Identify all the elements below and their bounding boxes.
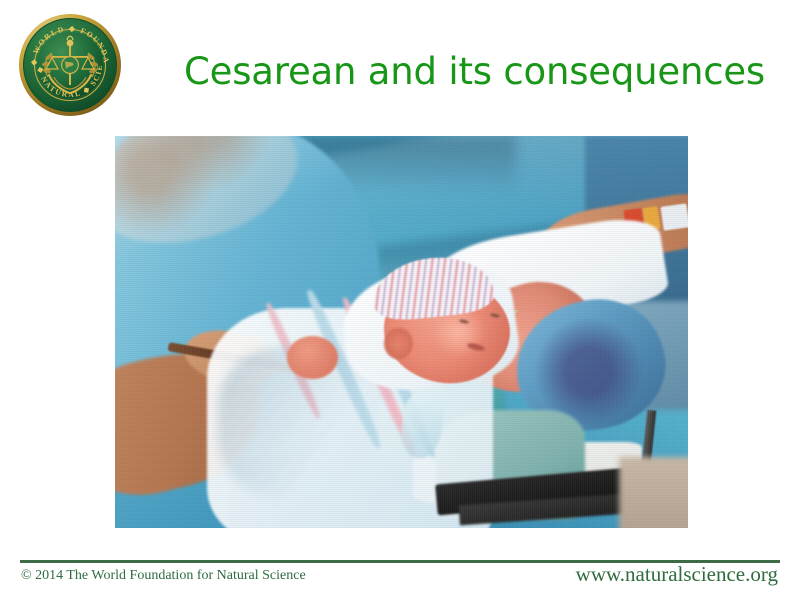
seal-icon: THE ◆ WORLD ◆ FOUNDATION FOR ◆ NATURAL ◆… [18,13,122,117]
slide: Cesarean and its consequences [0,0,800,600]
hospital-wristband-white [660,203,688,230]
footer-website: www.naturalscience.org [576,562,778,587]
photo-content [115,136,688,528]
footer-copyright: © 2014 The World Foundation for Natural … [21,568,306,584]
organization-logo: THE ◆ WORLD ◆ FOUNDATION FOR ◆ NATURAL ◆… [18,13,122,117]
slide-photo [115,136,688,528]
baby-hand [287,336,339,379]
page-title: Cesarean and its consequences [184,46,784,98]
floor [619,457,688,528]
